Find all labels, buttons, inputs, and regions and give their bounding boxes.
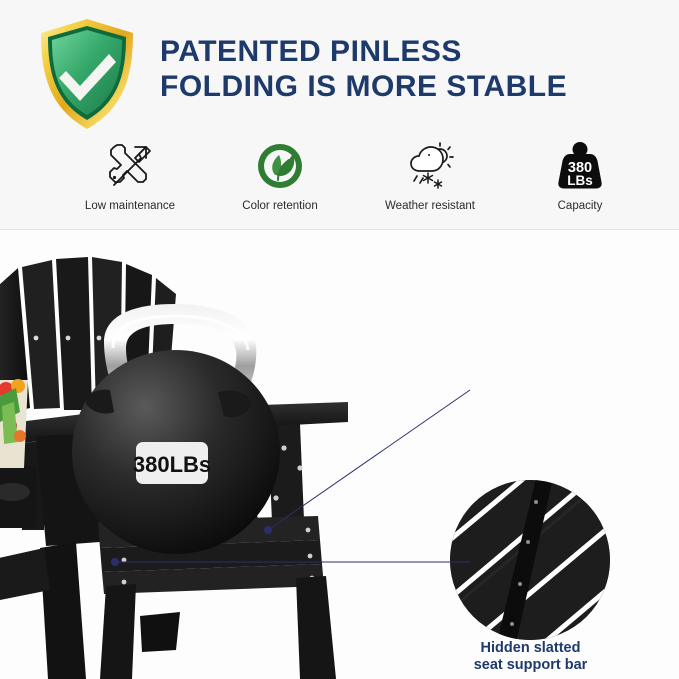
headline-line-2: FOLDING IS MORE STABLE (160, 69, 660, 104)
headline-line-1: PATENTED PINLESS (160, 34, 660, 69)
chair-front-left-leg (100, 584, 136, 679)
chair-folding-bracket (0, 548, 50, 602)
feature-list: Low maintenance Color retention (55, 140, 655, 220)
leaf-circle-icon (255, 140, 305, 192)
kettlebell-weight-text: 380LBs (133, 452, 211, 477)
kettlebell: 380LBs (72, 350, 280, 554)
product-feature-image: PATENTED PINLESS FOLDING IS MORE STABLE … (0, 0, 679, 679)
product-photo-area: 380LBs (0, 230, 679, 679)
feature-weather-resistant: Weather resistant (355, 140, 505, 212)
callout-caption-slats: Hidden slatted seat support bar (423, 640, 638, 674)
feature-capacity: 380 LBs Capacity (505, 140, 655, 212)
header-band: PATENTED PINLESS FOLDING IS MORE STABLE … (0, 0, 679, 229)
chair-rear-leg (40, 542, 86, 679)
feature-low-maintenance: Low maintenance (55, 140, 205, 212)
feature-label: Color retention (242, 200, 317, 212)
feature-label: Weather resistant (385, 200, 475, 212)
capacity-unit: LBs (567, 173, 593, 188)
folding-adirondack-chair-photo: 380LBs (0, 230, 440, 679)
green-shield-check-badge (38, 16, 136, 132)
weight-capacity-icon: 380 LBs (555, 140, 605, 192)
screwdriver-wrench-icon (105, 140, 155, 192)
cloud-sun-rain-snow-icon (404, 140, 456, 192)
feature-color-retention: Color retention (205, 140, 355, 212)
chair-front-right-leg (296, 576, 336, 679)
feature-label: Capacity (558, 200, 603, 212)
callout-hidden-slatted-seat-support-bar (450, 480, 610, 640)
caption-line-1: Hidden slatted (423, 640, 638, 657)
caption-line-2: seat support bar (423, 657, 638, 674)
page-title: PATENTED PINLESS FOLDING IS MORE STABLE (160, 34, 660, 104)
feature-label: Low maintenance (85, 200, 175, 212)
